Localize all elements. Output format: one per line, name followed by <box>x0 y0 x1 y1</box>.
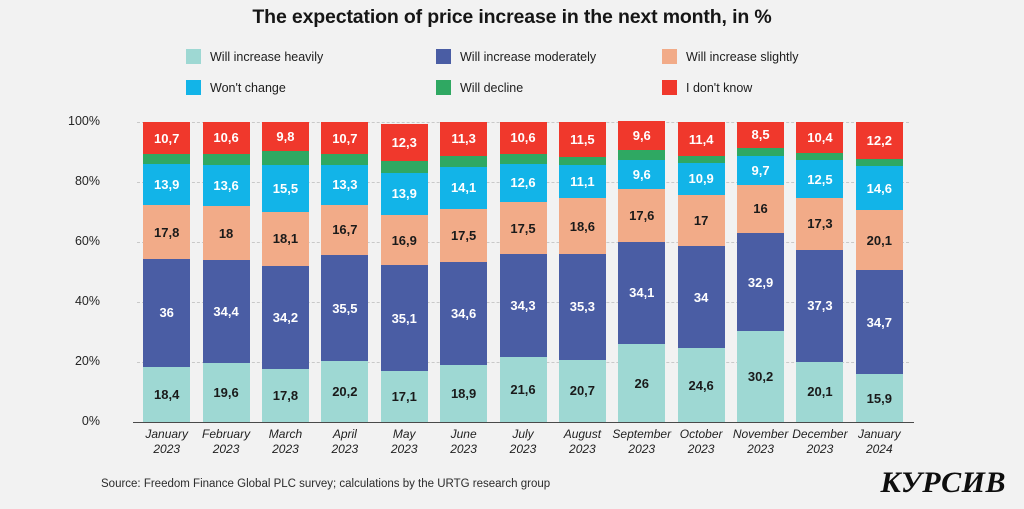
legend-label: Will increase heavily <box>210 50 323 64</box>
bar-segment[interactable]: 9,6 <box>618 160 665 189</box>
bar-segment[interactable]: 17 <box>678 195 725 246</box>
bar-segment[interactable]: 18,1 <box>262 212 309 266</box>
table-row[interactable]: 24,6341710,911,4 <box>678 122 725 422</box>
bar-segment[interactable]: 34,2 <box>262 266 309 369</box>
bar-segment[interactable]: 9,8 <box>262 122 309 151</box>
bar-value-label: 36 <box>159 306 173 319</box>
bar-value-label: 18,1 <box>273 232 298 245</box>
bar-value-label: 10,7 <box>154 132 179 145</box>
bar-segment[interactable]: 34 <box>678 246 725 348</box>
legend-label: Will decline <box>460 81 523 95</box>
legend-swatch-slightly <box>662 49 677 64</box>
bar-segment[interactable]: 18 <box>203 206 250 260</box>
bar-segment[interactable]: 13,9 <box>381 173 428 215</box>
bar-group: 18,43617,813,910,719,634,41813,610,617,8… <box>137 122 909 422</box>
bar-segment[interactable]: 15,5 <box>262 165 309 212</box>
bar-segment[interactable]: 34,3 <box>500 254 547 357</box>
bar-segment[interactable]: 20,1 <box>856 210 903 270</box>
bar-value-label: 9,7 <box>751 164 769 177</box>
bar-value-label: 11,1 <box>570 175 595 188</box>
bar-segment[interactable]: 17,8 <box>143 205 190 258</box>
bar-value-label: 17,5 <box>451 229 476 242</box>
legend-item-slightly[interactable]: Will increase slightly <box>662 49 799 64</box>
legend-label: I don't know <box>686 81 752 95</box>
bar-value-label: 16,7 <box>332 223 357 236</box>
legend-item-heavily[interactable]: Will increase heavily <box>186 49 323 64</box>
bar-segment[interactable]: 20,7 <box>559 360 606 422</box>
plot-area: 18,43617,813,910,719,634,41813,610,617,8… <box>137 122 909 422</box>
page-title: The expectation of price increase in the… <box>0 6 1024 29</box>
bar-segment[interactable]: 12,3 <box>381 124 428 161</box>
table-row[interactable]: 17,135,116,913,912,3 <box>381 122 428 422</box>
bar-segment[interactable]: 24,6 <box>678 348 725 422</box>
bar-value-label: 20,7 <box>570 384 595 397</box>
bar-value-label: 24,6 <box>688 379 713 392</box>
bar-value-label: 17 <box>694 214 708 227</box>
bar-value-label: 10,6 <box>510 131 535 144</box>
bar-value-label: 16,9 <box>392 234 417 247</box>
bar-value-label: 12,3 <box>392 136 417 149</box>
bar-value-label: 13,3 <box>332 178 357 191</box>
bar-segment[interactable] <box>678 156 725 162</box>
y-axis-tick: 20% <box>40 354 100 368</box>
table-row[interactable]: 30,232,9169,78,5 <box>737 122 784 422</box>
legend-swatch-heavily <box>186 49 201 64</box>
bar-value-label: 34,6 <box>451 307 476 320</box>
bar-segment[interactable]: 14,6 <box>856 166 903 210</box>
bar-segment[interactable] <box>500 154 547 164</box>
bar-value-label: 26 <box>635 377 649 390</box>
legend-swatch-decline <box>436 80 451 95</box>
legend-item-dont_know[interactable]: I don't know <box>662 80 752 95</box>
bar-segment[interactable]: 34,7 <box>856 270 903 374</box>
bar-segment[interactable]: 10,6 <box>500 122 547 154</box>
bar-segment[interactable]: 10,7 <box>143 122 190 154</box>
bar-segment[interactable]: 9,6 <box>618 121 665 150</box>
legend-swatch-dont_know <box>662 80 677 95</box>
bar-segment[interactable]: 17,5 <box>440 209 487 262</box>
bar-segment[interactable]: 20,1 <box>796 362 843 422</box>
bar-segment[interactable]: 11,4 <box>678 122 725 156</box>
y-axis-tick: 0% <box>40 414 100 428</box>
bar-value-label: 9,8 <box>276 130 294 143</box>
bar-value-label: 34,4 <box>213 305 238 318</box>
bar-value-label: 13,9 <box>154 178 179 191</box>
bar-segment[interactable] <box>618 150 665 161</box>
bar-segment[interactable]: 21,6 <box>500 357 547 422</box>
bar-value-label: 30,2 <box>748 370 773 383</box>
bar-segment[interactable]: 30,2 <box>737 331 784 422</box>
legend-item-decline[interactable]: Will decline <box>436 80 523 95</box>
x-axis-label: January2024 <box>837 427 921 458</box>
bar-segment[interactable]: 13,9 <box>143 164 190 206</box>
bar-segment[interactable]: 11,1 <box>559 165 606 198</box>
bar-segment[interactable]: 35,3 <box>559 254 606 360</box>
bar-segment[interactable] <box>559 157 606 165</box>
bar-segment[interactable]: 12,6 <box>500 164 547 202</box>
bar-value-label: 17,5 <box>510 222 535 235</box>
bar-value-label: 32,9 <box>748 276 773 289</box>
x-axis-labels: January2023February2023March2023April202… <box>137 427 909 463</box>
bar-segment[interactable]: 12,2 <box>856 122 903 159</box>
bar-segment[interactable] <box>262 151 309 165</box>
table-row[interactable]: 20,235,516,713,310,7 <box>321 122 368 422</box>
bar-segment[interactable]: 34,6 <box>440 262 487 366</box>
bar-segment[interactable]: 11,3 <box>440 122 487 156</box>
bar-segment[interactable] <box>203 154 250 165</box>
legend-item-moderately[interactable]: Will increase moderately <box>436 49 596 64</box>
bar-segment[interactable]: 26 <box>618 344 665 422</box>
bar-segment[interactable]: 17,8 <box>262 369 309 422</box>
legend-swatch-no_change <box>186 80 201 95</box>
bar-value-label: 17,1 <box>392 390 417 403</box>
y-axis-tick: 40% <box>40 294 100 308</box>
bar-value-label: 34,2 <box>273 311 298 324</box>
bar-segment[interactable]: 17,5 <box>500 202 547 255</box>
bar-segment[interactable]: 16,7 <box>321 205 368 255</box>
bar-segment[interactable] <box>440 156 487 167</box>
bar-value-label: 35,3 <box>570 300 595 313</box>
bar-segment[interactable]: 12,5 <box>796 160 843 198</box>
bar-segment[interactable]: 34,4 <box>203 260 250 363</box>
y-axis: 0%20%40%60%80%100% <box>32 122 100 422</box>
bar-segment[interactable]: 8,5 <box>737 122 784 148</box>
bar-value-label: 19,6 <box>213 386 238 399</box>
table-row[interactable]: 18,43617,813,910,7 <box>143 122 190 422</box>
bar-value-label: 14,6 <box>867 182 892 195</box>
bar-segment[interactable]: 18,4 <box>143 367 190 422</box>
bar-segment[interactable]: 32,9 <box>737 233 784 332</box>
bar-value-label: 34 <box>694 291 708 304</box>
bar-segment[interactable] <box>321 154 368 165</box>
bar-value-label: 18,9 <box>451 387 476 400</box>
bar-segment[interactable]: 11,5 <box>559 122 606 157</box>
bar-segment[interactable]: 10,4 <box>796 122 843 153</box>
bar-segment[interactable] <box>737 148 784 156</box>
x-axis-label-month: January <box>837 427 921 442</box>
legend-label: Will increase moderately <box>460 50 596 64</box>
bar-value-label: 14,1 <box>451 181 476 194</box>
bar-segment[interactable]: 13,3 <box>321 165 368 205</box>
bar-value-label: 10,9 <box>688 172 713 185</box>
legend-item-no_change[interactable]: Won't change <box>186 80 286 95</box>
bar-value-label: 35,5 <box>332 302 357 315</box>
bar-segment[interactable]: 18,9 <box>440 365 487 422</box>
legend-swatch-moderately <box>436 49 451 64</box>
bar-segment[interactable]: 35,5 <box>321 255 368 362</box>
bar-segment[interactable]: 10,9 <box>678 163 725 196</box>
bar-value-label: 17,8 <box>154 226 179 239</box>
bar-value-label: 12,6 <box>510 176 535 189</box>
bar-segment[interactable]: 9,7 <box>737 156 784 185</box>
bar-segment[interactable]: 17,1 <box>381 371 428 422</box>
bar-segment[interactable] <box>856 159 903 167</box>
bar-segment[interactable]: 16 <box>737 185 784 233</box>
bar-value-label: 15,5 <box>273 182 298 195</box>
bar-value-label: 20,1 <box>867 234 892 247</box>
bar-segment[interactable]: 35,1 <box>381 265 428 370</box>
bar-value-label: 37,3 <box>807 299 832 312</box>
bar-value-label: 8,5 <box>751 128 769 141</box>
table-row[interactable]: 2634,117,69,69,6 <box>618 122 665 422</box>
bar-segment[interactable]: 10,7 <box>321 122 368 154</box>
bar-value-label: 34,1 <box>629 286 654 299</box>
bar-segment[interactable]: 14,1 <box>440 167 487 209</box>
bar-value-label: 12,5 <box>807 173 832 186</box>
bar-value-label: 20,1 <box>807 385 832 398</box>
bar-value-label: 12,2 <box>867 134 892 147</box>
y-axis-tick: 80% <box>40 174 100 188</box>
bar-value-label: 13,9 <box>392 187 417 200</box>
bar-segment[interactable] <box>143 154 190 164</box>
table-row[interactable]: 19,634,41813,610,6 <box>203 122 250 422</box>
infographic-root: The expectation of price increase in the… <box>0 0 1024 509</box>
source-note: Source: Freedom Finance Global PLC surve… <box>101 478 550 490</box>
bar-segment[interactable]: 17,6 <box>618 189 665 242</box>
x-axis-line <box>133 422 914 423</box>
table-row[interactable]: 15,934,720,114,612,2 <box>856 122 903 422</box>
bar-value-label: 17,6 <box>629 209 654 222</box>
bar-value-label: 10,4 <box>807 131 832 144</box>
y-axis-tick: 60% <box>40 234 100 248</box>
bar-segment[interactable]: 15,9 <box>856 374 903 422</box>
table-row[interactable]: 21,634,317,512,610,6 <box>500 122 547 422</box>
table-row[interactable]: 17,834,218,115,59,8 <box>262 122 309 422</box>
bar-value-label: 35,1 <box>392 312 417 325</box>
bar-value-label: 17,3 <box>807 217 832 230</box>
bar-value-label: 9,6 <box>633 129 651 142</box>
bar-value-label: 18 <box>219 227 233 240</box>
bar-value-label: 16 <box>753 202 767 215</box>
bar-value-label: 20,2 <box>332 385 357 398</box>
bar-value-label: 18,4 <box>154 388 179 401</box>
bar-segment[interactable]: 20,2 <box>321 361 368 422</box>
bar-value-label: 10,7 <box>332 132 357 145</box>
bar-segment[interactable]: 10,6 <box>203 122 250 154</box>
bar-segment[interactable] <box>796 153 843 160</box>
y-axis-tick: 100% <box>40 114 100 128</box>
bar-value-label: 15,9 <box>867 392 892 405</box>
bar-segment[interactable]: 19,6 <box>203 363 250 422</box>
bar-value-label: 9,6 <box>633 168 651 181</box>
legend-label: Won't change <box>210 81 286 95</box>
bar-value-label: 11,4 <box>689 133 714 146</box>
chart-legend: Will increase heavilyWon't changeWill in… <box>186 47 986 103</box>
bar-segment[interactable] <box>381 161 428 173</box>
bar-value-label: 17,8 <box>273 389 298 402</box>
bar-segment[interactable]: 13,6 <box>203 165 250 206</box>
bar-segment[interactable]: 18,6 <box>559 198 606 254</box>
bar-segment[interactable]: 16,9 <box>381 215 428 266</box>
bar-segment[interactable]: 34,1 <box>618 242 665 344</box>
table-row[interactable]: 20,735,318,611,111,5 <box>559 122 606 422</box>
bar-segment[interactable]: 36 <box>143 259 190 367</box>
bar-value-label: 11,3 <box>451 132 476 145</box>
bar-segment[interactable]: 37,3 <box>796 250 843 362</box>
bar-value-label: 21,6 <box>510 383 535 396</box>
bar-value-label: 11,5 <box>570 133 595 146</box>
publisher-logo: КУРСИВ <box>880 466 1006 500</box>
bar-value-label: 34,3 <box>510 299 535 312</box>
legend-label: Will increase slightly <box>686 50 799 64</box>
table-row[interactable]: 20,137,317,312,510,4 <box>796 122 843 422</box>
bar-value-label: 34,7 <box>867 316 892 329</box>
bar-value-label: 10,6 <box>213 131 238 144</box>
bar-segment[interactable]: 17,3 <box>796 198 843 250</box>
x-axis-label-year: 2024 <box>837 442 921 457</box>
bar-value-label: 18,6 <box>570 220 595 233</box>
table-row[interactable]: 18,934,617,514,111,3 <box>440 122 487 422</box>
bar-value-label: 13,6 <box>213 179 238 192</box>
